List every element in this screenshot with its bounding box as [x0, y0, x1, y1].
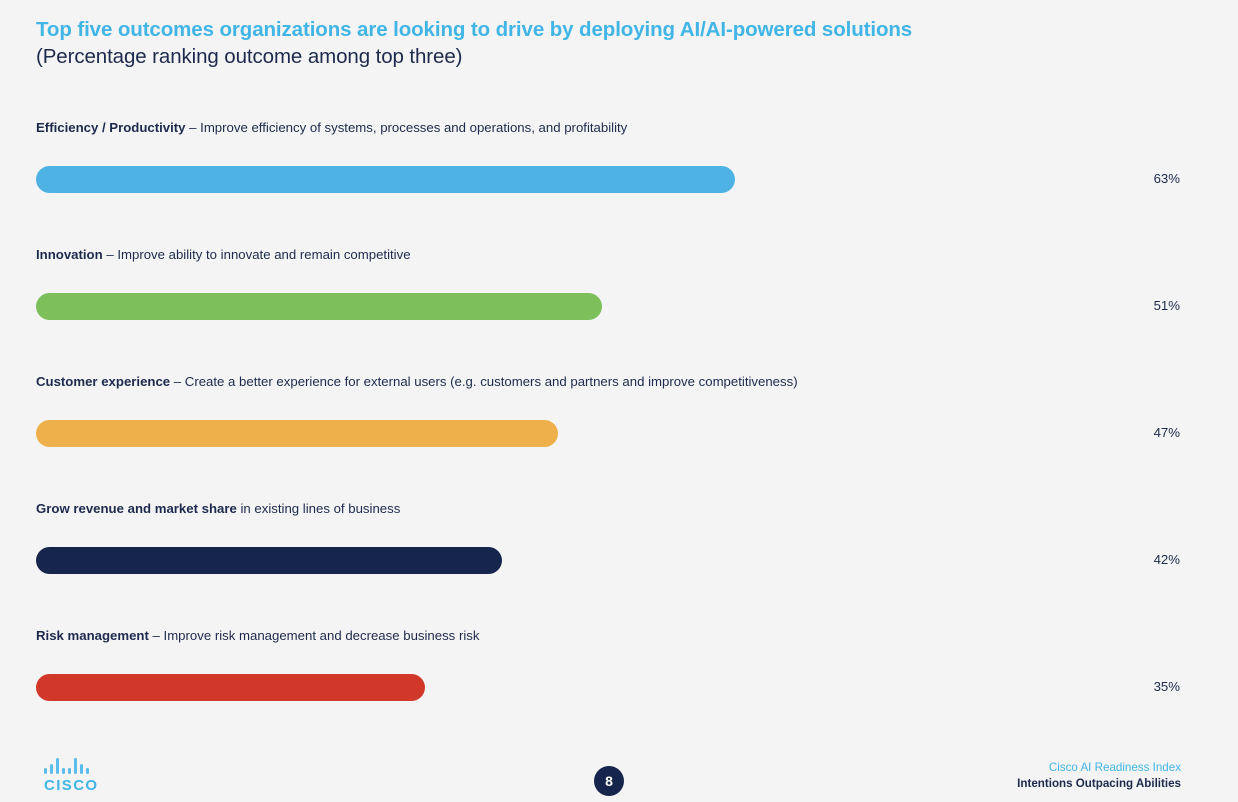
- bar-label-desc: in existing lines of business: [237, 501, 400, 516]
- report-name: Cisco AI Readiness Index: [1017, 760, 1181, 776]
- slide-footer: CISCO 8 Cisco AI Readiness Index Intenti…: [0, 744, 1238, 802]
- chart-row: Customer experience – Create a better ex…: [0, 372, 1238, 499]
- cisco-logo-bars-icon: [44, 758, 114, 774]
- page-title: Top five outcomes organizations are look…: [36, 16, 1166, 43]
- bar-track: [36, 420, 1202, 447]
- cisco-logo: CISCO: [44, 758, 114, 794]
- bar-track: [36, 293, 1202, 320]
- bar-label-strong: Risk management: [36, 628, 149, 643]
- slide: Top five outcomes organizations are look…: [0, 0, 1238, 802]
- bar-label-desc: – Improve efficiency of systems, process…: [186, 120, 628, 135]
- bar-label-strong: Customer experience: [36, 374, 170, 389]
- bar-value-label: 42%: [1120, 549, 1180, 571]
- bar-value-label: 63%: [1120, 168, 1180, 190]
- bar-label: Risk management – Improve risk managemen…: [36, 626, 479, 645]
- bar-label-strong: Efficiency / Productivity: [36, 120, 186, 135]
- slide-header: Top five outcomes organizations are look…: [36, 16, 1166, 70]
- bar-value-label: 47%: [1120, 422, 1180, 444]
- bar-fill[interactable]: [36, 166, 735, 193]
- chart-row: Innovation – Improve ability to innovate…: [0, 245, 1238, 372]
- bar-label-strong: Grow revenue and market share: [36, 501, 237, 516]
- bar-track: [36, 166, 1202, 193]
- bar-label: Innovation – Improve ability to innovate…: [36, 245, 411, 264]
- bar-fill[interactable]: [36, 547, 502, 574]
- bar-label-desc: – Create a better experience for externa…: [170, 374, 797, 389]
- bar-fill[interactable]: [36, 420, 558, 447]
- footer-report-info: Cisco AI Readiness Index Intentions Outp…: [1017, 760, 1181, 792]
- bar-track: [36, 674, 1202, 701]
- report-subtitle: Intentions Outpacing Abilities: [1017, 776, 1181, 792]
- bar-track: [36, 547, 1202, 574]
- bar-label: Efficiency / Productivity – Improve effi…: [36, 118, 627, 137]
- bar-fill[interactable]: [36, 674, 425, 701]
- bar-chart: Efficiency / Productivity – Improve effi…: [0, 118, 1238, 753]
- bar-label-desc: – Improve ability to innovate and remain…: [103, 247, 411, 262]
- chart-row: Efficiency / Productivity – Improve effi…: [0, 118, 1238, 245]
- bar-fill[interactable]: [36, 293, 602, 320]
- bar-label-strong: Innovation: [36, 247, 103, 262]
- page-number-badge: 8: [594, 766, 624, 796]
- cisco-wordmark: CISCO: [44, 777, 114, 794]
- bar-label: Grow revenue and market share in existin…: [36, 499, 400, 518]
- chart-row: Risk management – Improve risk managemen…: [0, 626, 1238, 753]
- bar-label-desc: – Improve risk management and decrease b…: [149, 628, 480, 643]
- bar-value-label: 51%: [1120, 295, 1180, 317]
- bar-label: Customer experience – Create a better ex…: [36, 372, 798, 391]
- page-subtitle: (Percentage ranking outcome among top th…: [36, 43, 1166, 70]
- bar-value-label: 35%: [1120, 676, 1180, 698]
- chart-row: Grow revenue and market share in existin…: [0, 499, 1238, 626]
